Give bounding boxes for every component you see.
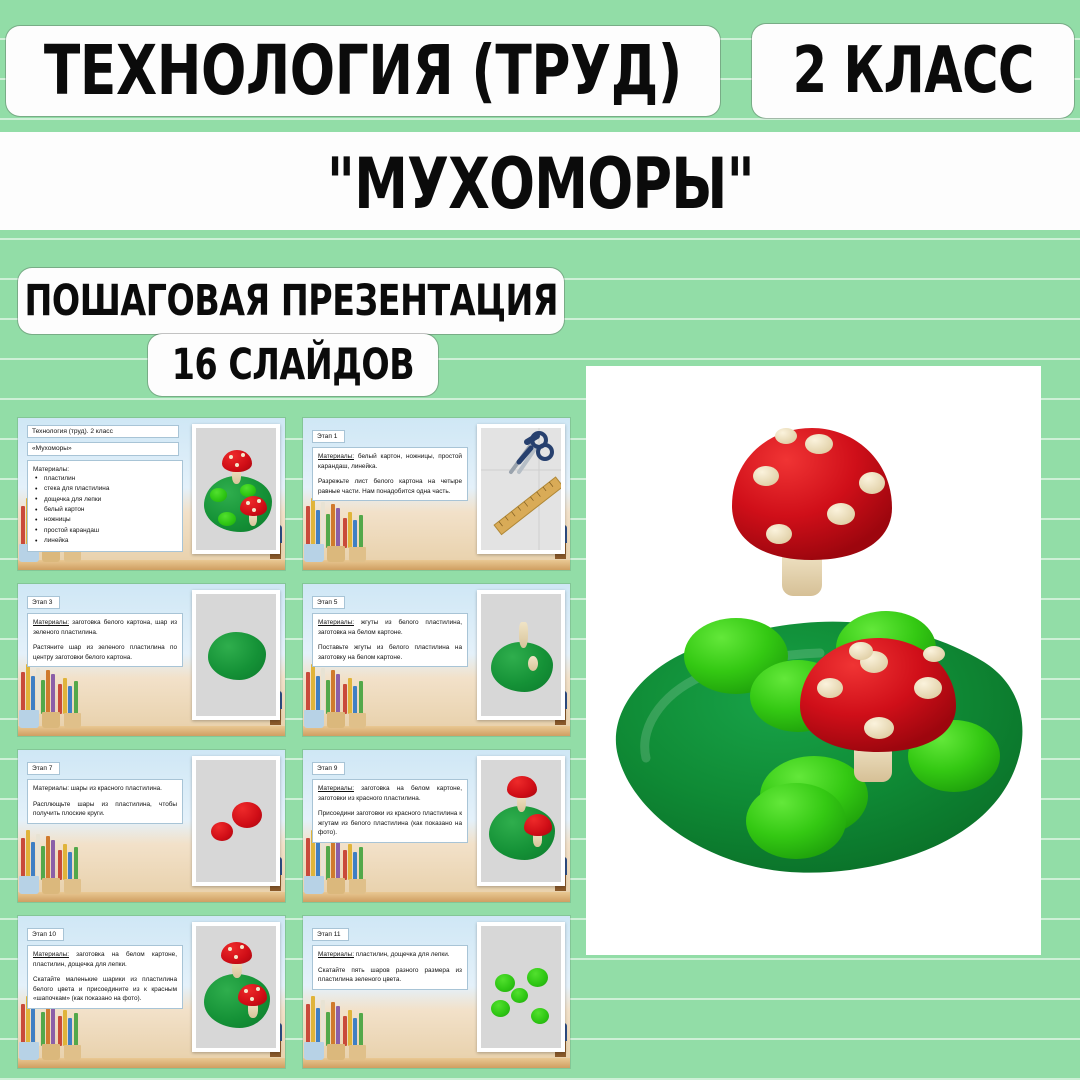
- scissors-ruler-photo: [481, 428, 561, 550]
- materials-heading: Материалы:: [33, 465, 177, 474]
- instruction-text: Скатайте пять шаров разного размера из п…: [318, 966, 462, 985]
- grade-label: 2 КЛАСС: [792, 34, 1033, 108]
- list-item: стека для пластилина: [33, 484, 177, 494]
- cap-dot: [923, 646, 945, 662]
- cap-dot: [766, 524, 792, 544]
- slide-photo: [477, 590, 565, 720]
- slide-thumbnail[interactable]: Этап 7 Материалы: шары из красного пласт…: [18, 750, 285, 902]
- slide-title-line-1: Технология (труд). 2 класс: [27, 425, 179, 438]
- dotted-mushrooms-photo: [196, 926, 276, 1048]
- cap-dot: [864, 717, 894, 739]
- subject-label: ТЕХНОЛОГИЯ (ТРУД): [44, 31, 682, 111]
- title-label: "МУХОМОРЫ": [326, 143, 753, 225]
- step-text-box: Материалы: заготовка белого картона, шар…: [27, 613, 183, 667]
- slide-photo: [477, 756, 565, 886]
- slide-photo: [192, 922, 280, 1052]
- slide-thumbnail[interactable]: Технология (труд). 2 класс «Мухоморы» Ма…: [18, 418, 285, 570]
- instruction-text: Присоедини заготовки из красного пластил…: [318, 809, 462, 837]
- materials-label: Материалы:: [318, 453, 354, 460]
- step-text-box: Материалы: шары из красного пластилина. …: [27, 779, 183, 823]
- step-text-box: Материалы: заготовка на белом картоне, п…: [27, 945, 183, 1008]
- presentation-type-banner: ПОШАГОВАЯ ПРЕЗЕНТАЦИЯ: [18, 268, 564, 334]
- subject-banner: ТЕХНОЛОГИЯ (ТРУД): [6, 26, 720, 116]
- materials-text: шары из красного пластилина.: [69, 785, 162, 792]
- materials-line: Материалы: белый картон, ножницы, просто…: [318, 452, 462, 471]
- instruction-text: Расплющьте шары из пластилина, чтобы пол…: [33, 800, 177, 819]
- poster-root: ТЕХНОЛОГИЯ (ТРУД) 2 КЛАСС "МУХОМОРЫ" ПОШ…: [0, 0, 1080, 1080]
- instruction-text: Поставьте жгуты из белого пластилина на …: [318, 643, 462, 662]
- slides-count-banner: 16 СЛАЙДОВ: [148, 334, 438, 396]
- slide-photo: [477, 424, 565, 554]
- cap-dot: [817, 678, 843, 698]
- slide-thumbnail[interactable]: Этап 10 Материалы: заготовка на белом ка…: [18, 916, 285, 1068]
- materials-line: Материалы: заготовка на белом картоне, п…: [33, 950, 177, 969]
- slide-thumbnail[interactable]: Этап 5 Материалы: жгуты из белого пласти…: [303, 584, 570, 736]
- materials-line: Материалы: заготовка белого картона, шар…: [33, 618, 177, 637]
- slide-photo: [192, 424, 280, 554]
- presentation-type-label: ПОШАГОВАЯ ПРЕЗЕНТАЦИЯ: [24, 276, 558, 326]
- step-tag: Этап 5: [312, 596, 345, 609]
- instruction-text: Разрежьте лист белого картона на четыре …: [318, 477, 462, 496]
- page-title: "МУХОМОРЫ": [0, 140, 1080, 228]
- slides-count-label: 16 СЛАЙДОВ: [172, 340, 414, 390]
- step-tag: Этап 11: [312, 928, 349, 941]
- step-tag: Этап 10: [27, 928, 64, 941]
- cap-dot: [849, 642, 873, 660]
- grade-banner: 2 КЛАСС: [752, 24, 1074, 118]
- step-text-box: Материалы: жгуты из белого пластилина, з…: [312, 613, 468, 667]
- slide-photo: [477, 922, 565, 1052]
- step-tag: Этап 9: [312, 762, 345, 775]
- slide-photo: [192, 590, 280, 720]
- step-tag: Этап 1: [312, 430, 345, 443]
- hero-photo: [586, 366, 1041, 955]
- cap-dot: [827, 503, 855, 525]
- slide-thumbnail[interactable]: Этап 1 Материалы: белый картон, ножницы,…: [303, 418, 570, 570]
- green-blob-photo: [196, 594, 276, 716]
- cap-dot: [859, 472, 885, 494]
- list-item: ножницы: [33, 515, 177, 525]
- list-item: дощечка для лепки: [33, 495, 177, 505]
- materials-label: Материалы:: [33, 785, 69, 792]
- list-item: линейка: [33, 536, 177, 546]
- materials-label: Материалы:: [33, 951, 69, 958]
- slide-title-line-2: «Мухоморы»: [27, 442, 179, 455]
- slide-thumbnail[interactable]: Этап 11 Материалы: пластилин, дощечка дл…: [303, 916, 570, 1068]
- materials-label: Материалы:: [33, 619, 69, 626]
- materials-list: пластилин стека для пластилина дощечка д…: [33, 474, 177, 547]
- step-tag: Этап 7: [27, 762, 60, 775]
- finished-mushrooms-photo: [196, 428, 276, 550]
- mushroom-scene-illustration: [586, 366, 1041, 955]
- list-item: белый картон: [33, 505, 177, 515]
- materials-box: Материалы: пластилин стека для пластилин…: [27, 460, 183, 552]
- cap-dot: [753, 466, 779, 486]
- step-text-box: Материалы: заготовка на белом картоне, з…: [312, 779, 468, 842]
- slide-thumbnail[interactable]: Этап 3 Материалы: заготовка белого карто…: [18, 584, 285, 736]
- step-text-box: Материалы: белый картон, ножницы, просто…: [312, 447, 468, 501]
- instruction-text: Растяните шар из зеленого пластилина по …: [33, 643, 177, 662]
- slide-photo: [192, 756, 280, 886]
- cap-dot: [805, 434, 833, 454]
- materials-line: Материалы: пластилин, дощечка для лепки.: [318, 950, 462, 959]
- cap-dot: [914, 677, 942, 699]
- red-discs-photo: [196, 760, 276, 882]
- materials-line: Материалы: шары из красного пластилина.: [33, 784, 177, 793]
- list-item: пластилин: [33, 474, 177, 484]
- instruction-text: Скатайте маленькие шарики из пластилина …: [33, 975, 177, 1003]
- materials-line: Материалы: заготовка на белом картоне, з…: [318, 784, 462, 803]
- blob-with-stems-photo: [481, 594, 561, 716]
- materials-text: пластилин, дощечка для лепки.: [354, 951, 450, 958]
- list-item: простой карандаш: [33, 526, 177, 536]
- slide-thumbnail-grid: Технология (труд). 2 класс «Мухоморы» Ма…: [18, 418, 570, 1070]
- slide-thumbnail[interactable]: Этап 9 Материалы: заготовка на белом кар…: [303, 750, 570, 902]
- two-red-caps-photo: [481, 760, 561, 882]
- materials-line: Материалы: жгуты из белого пластилина, з…: [318, 618, 462, 637]
- step-tag: Этап 3: [27, 596, 60, 609]
- grass-mound: [746, 783, 846, 859]
- materials-label: Материалы:: [318, 619, 354, 626]
- materials-label: Материалы:: [318, 951, 354, 958]
- step-text-box: Материалы: пластилин, дощечка для лепки.…: [312, 945, 468, 989]
- materials-label: Материалы:: [318, 785, 354, 792]
- green-balls-photo: [481, 926, 561, 1048]
- cap-dot: [775, 428, 797, 444]
